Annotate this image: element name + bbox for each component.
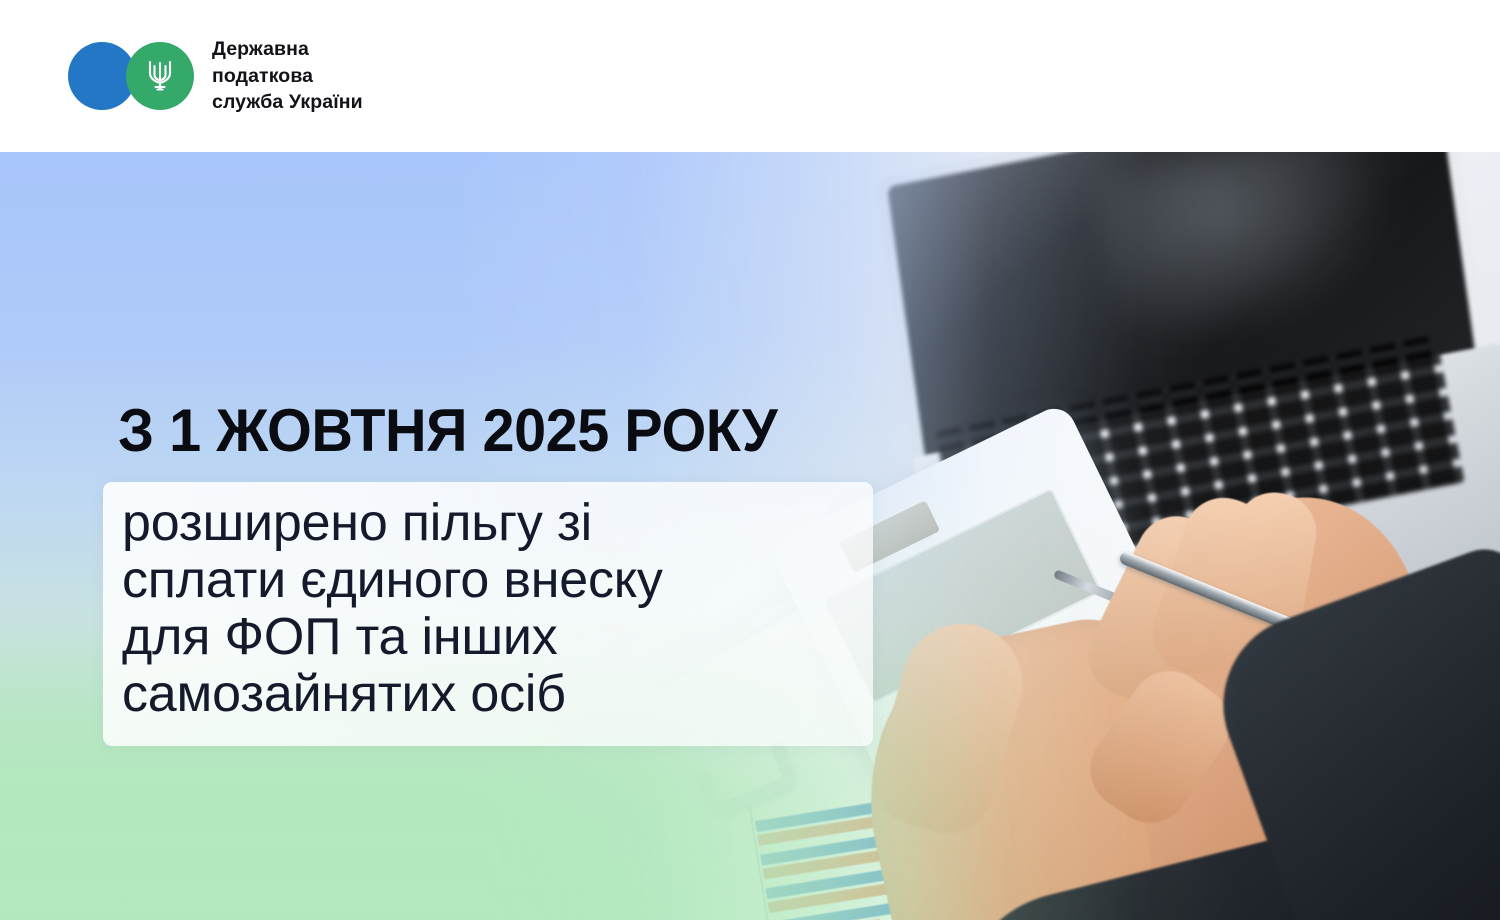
ukraine-trident-icon [144, 56, 176, 96]
organization-logo[interactable]: Державна податкова служба України [68, 36, 363, 116]
organization-name: Державна податкова служба України [212, 36, 363, 116]
logo-marks [68, 42, 194, 110]
green-circle-icon [126, 42, 194, 110]
page-body-text: розширено пільгу зі сплати єдиного внеск… [122, 495, 663, 723]
poster-canvas: Rent Office Travel Other unt 2019 [0, 0, 1500, 920]
page-headline: З 1 ЖОВТНЯ 2025 РОКУ [118, 401, 777, 461]
header-bar: Державна податкова служба України [0, 0, 1500, 152]
